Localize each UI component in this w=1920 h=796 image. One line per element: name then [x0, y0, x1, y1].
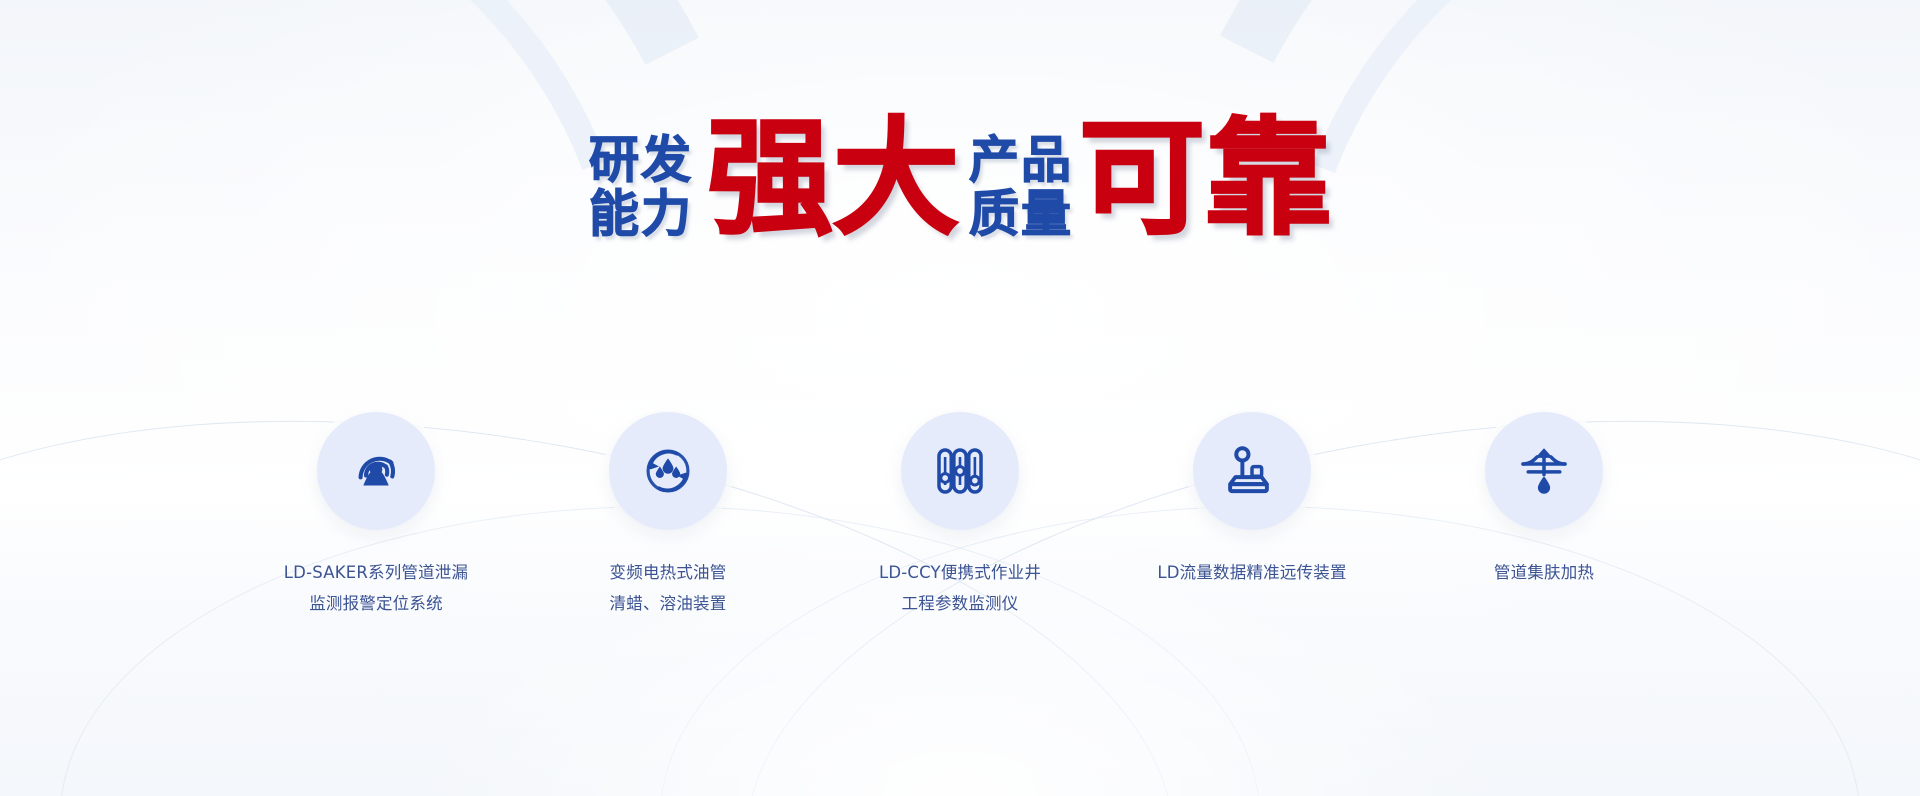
headline-emphasis-reliable: 可靠 — [1079, 116, 1331, 242]
feature-icon-circle — [1485, 412, 1603, 530]
feature-label: 变频电热式油管 清蜡、溶油装置 — [610, 558, 727, 619]
radar-signal-icon — [347, 442, 405, 500]
feature-label: 管道集肤加热 — [1494, 558, 1594, 589]
feature-label: LD-CCY便携式作业井 工程参数监测仪 — [879, 558, 1041, 619]
headline-quality-line1: 产品 — [969, 136, 1073, 184]
feature-item-flow-transmitter[interactable]: LD流量数据精准远传装置 — [1136, 412, 1368, 589]
feature-icon-circle — [317, 412, 435, 530]
headline-quality-line2: 质量 — [969, 190, 1073, 238]
headline-emphasis-strong: 强大 — [707, 116, 959, 242]
feature-label: LD-SAKER系列管道泄漏 监测报警定位系统 — [284, 558, 468, 619]
feature-item-skin-heating[interactable]: 管道集肤加热 — [1428, 412, 1660, 589]
feature-icon-circle — [1193, 412, 1311, 530]
feature-label: LD流量数据精准远传装置 — [1157, 558, 1346, 589]
headline: 研发 能力 强大 产品 质量 可靠 — [0, 112, 1920, 238]
feature-icon-circle — [901, 412, 1019, 530]
vertical-sliders-icon — [932, 443, 988, 499]
pipe-heating-arrows-icon — [1516, 443, 1572, 499]
feature-icon-circle — [609, 412, 727, 530]
hero-banner: 研发 能力 强大 产品 质量 可靠 — [0, 0, 1920, 796]
headline-rd-line1: 研发 — [589, 136, 693, 184]
headline-rd-line2: 能力 — [589, 190, 693, 238]
headline-group-quality: 产品 质量 — [969, 136, 1073, 238]
feature-list: LD-SAKER系列管道泄漏 监测报警定位系统 变 — [0, 412, 1920, 619]
feature-item-wax-removal[interactable]: 变频电热式油管 清蜡、溶油装置 — [552, 412, 784, 619]
wellhead-valve-icon — [1224, 443, 1280, 499]
water-droplets-recycle-icon — [639, 442, 697, 500]
feature-item-leak-detection[interactable]: LD-SAKER系列管道泄漏 监测报警定位系统 — [260, 412, 492, 619]
headline-group-rd: 研发 能力 — [589, 136, 693, 238]
feature-item-well-monitor[interactable]: LD-CCY便携式作业井 工程参数监测仪 — [844, 412, 1076, 619]
